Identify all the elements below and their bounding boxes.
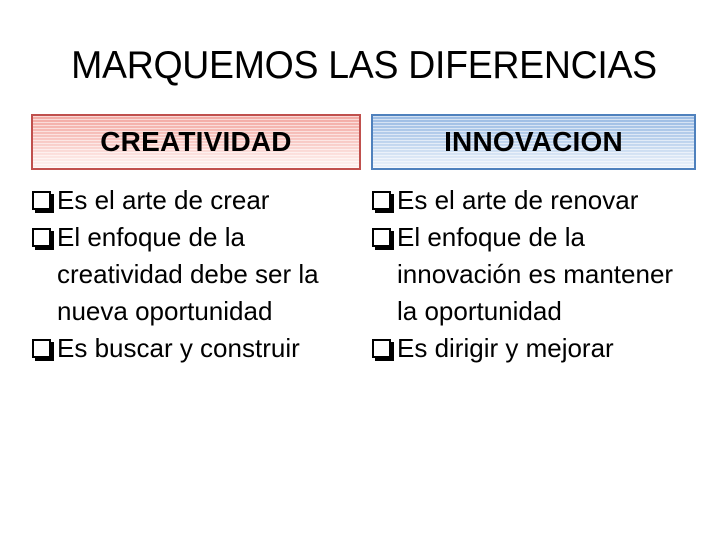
column-header-creatividad: CREATIVIDAD <box>31 114 361 170</box>
list-item: Es el arte de crear <box>31 182 361 219</box>
list-item-text: El enfoque de la innovación es mantener … <box>397 219 696 330</box>
hollow-square-bullet-icon <box>371 330 393 367</box>
page-title: MARQUEMOS LAS DIFERENCIAS <box>43 44 684 88</box>
column-creatividad: CREATIVIDAD Es el arte de crear El enfoq… <box>31 114 361 367</box>
column-header-innovacion: INNOVACION <box>371 114 696 170</box>
column-innovacion: INNOVACION Es el arte de renovar El enfo… <box>371 114 696 367</box>
list-item: Es buscar y construir <box>31 330 361 367</box>
list-item-text: Es buscar y construir <box>57 330 361 367</box>
column-header-innovacion-label: INNOVACION <box>444 127 623 157</box>
bullet-list-creatividad: Es el arte de crear El enfoque de la cre… <box>31 170 361 367</box>
list-item: Es el arte de renovar <box>371 182 696 219</box>
list-item-text: Es el arte de renovar <box>397 182 696 219</box>
hollow-square-bullet-icon <box>31 182 53 219</box>
list-item: El enfoque de la creatividad debe ser la… <box>31 219 361 330</box>
list-item-text: Es dirigir y mejorar <box>397 330 696 367</box>
hollow-square-bullet-icon <box>31 219 53 256</box>
bullet-list-innovacion: Es el arte de renovar El enfoque de la i… <box>371 170 696 367</box>
list-item: El enfoque de la innovación es mantener … <box>371 219 696 330</box>
list-item-text: Es el arte de crear <box>57 182 361 219</box>
hollow-square-bullet-icon <box>31 330 53 367</box>
slide-canvas: MARQUEMOS LAS DIFERENCIAS CREATIVIDAD Es… <box>0 0 728 546</box>
hollow-square-bullet-icon <box>371 182 393 219</box>
list-item: Es dirigir y mejorar <box>371 330 696 367</box>
hollow-square-bullet-icon <box>371 219 393 256</box>
column-header-creatividad-label: CREATIVIDAD <box>100 127 291 157</box>
list-item-text: El enfoque de la creatividad debe ser la… <box>57 219 361 330</box>
